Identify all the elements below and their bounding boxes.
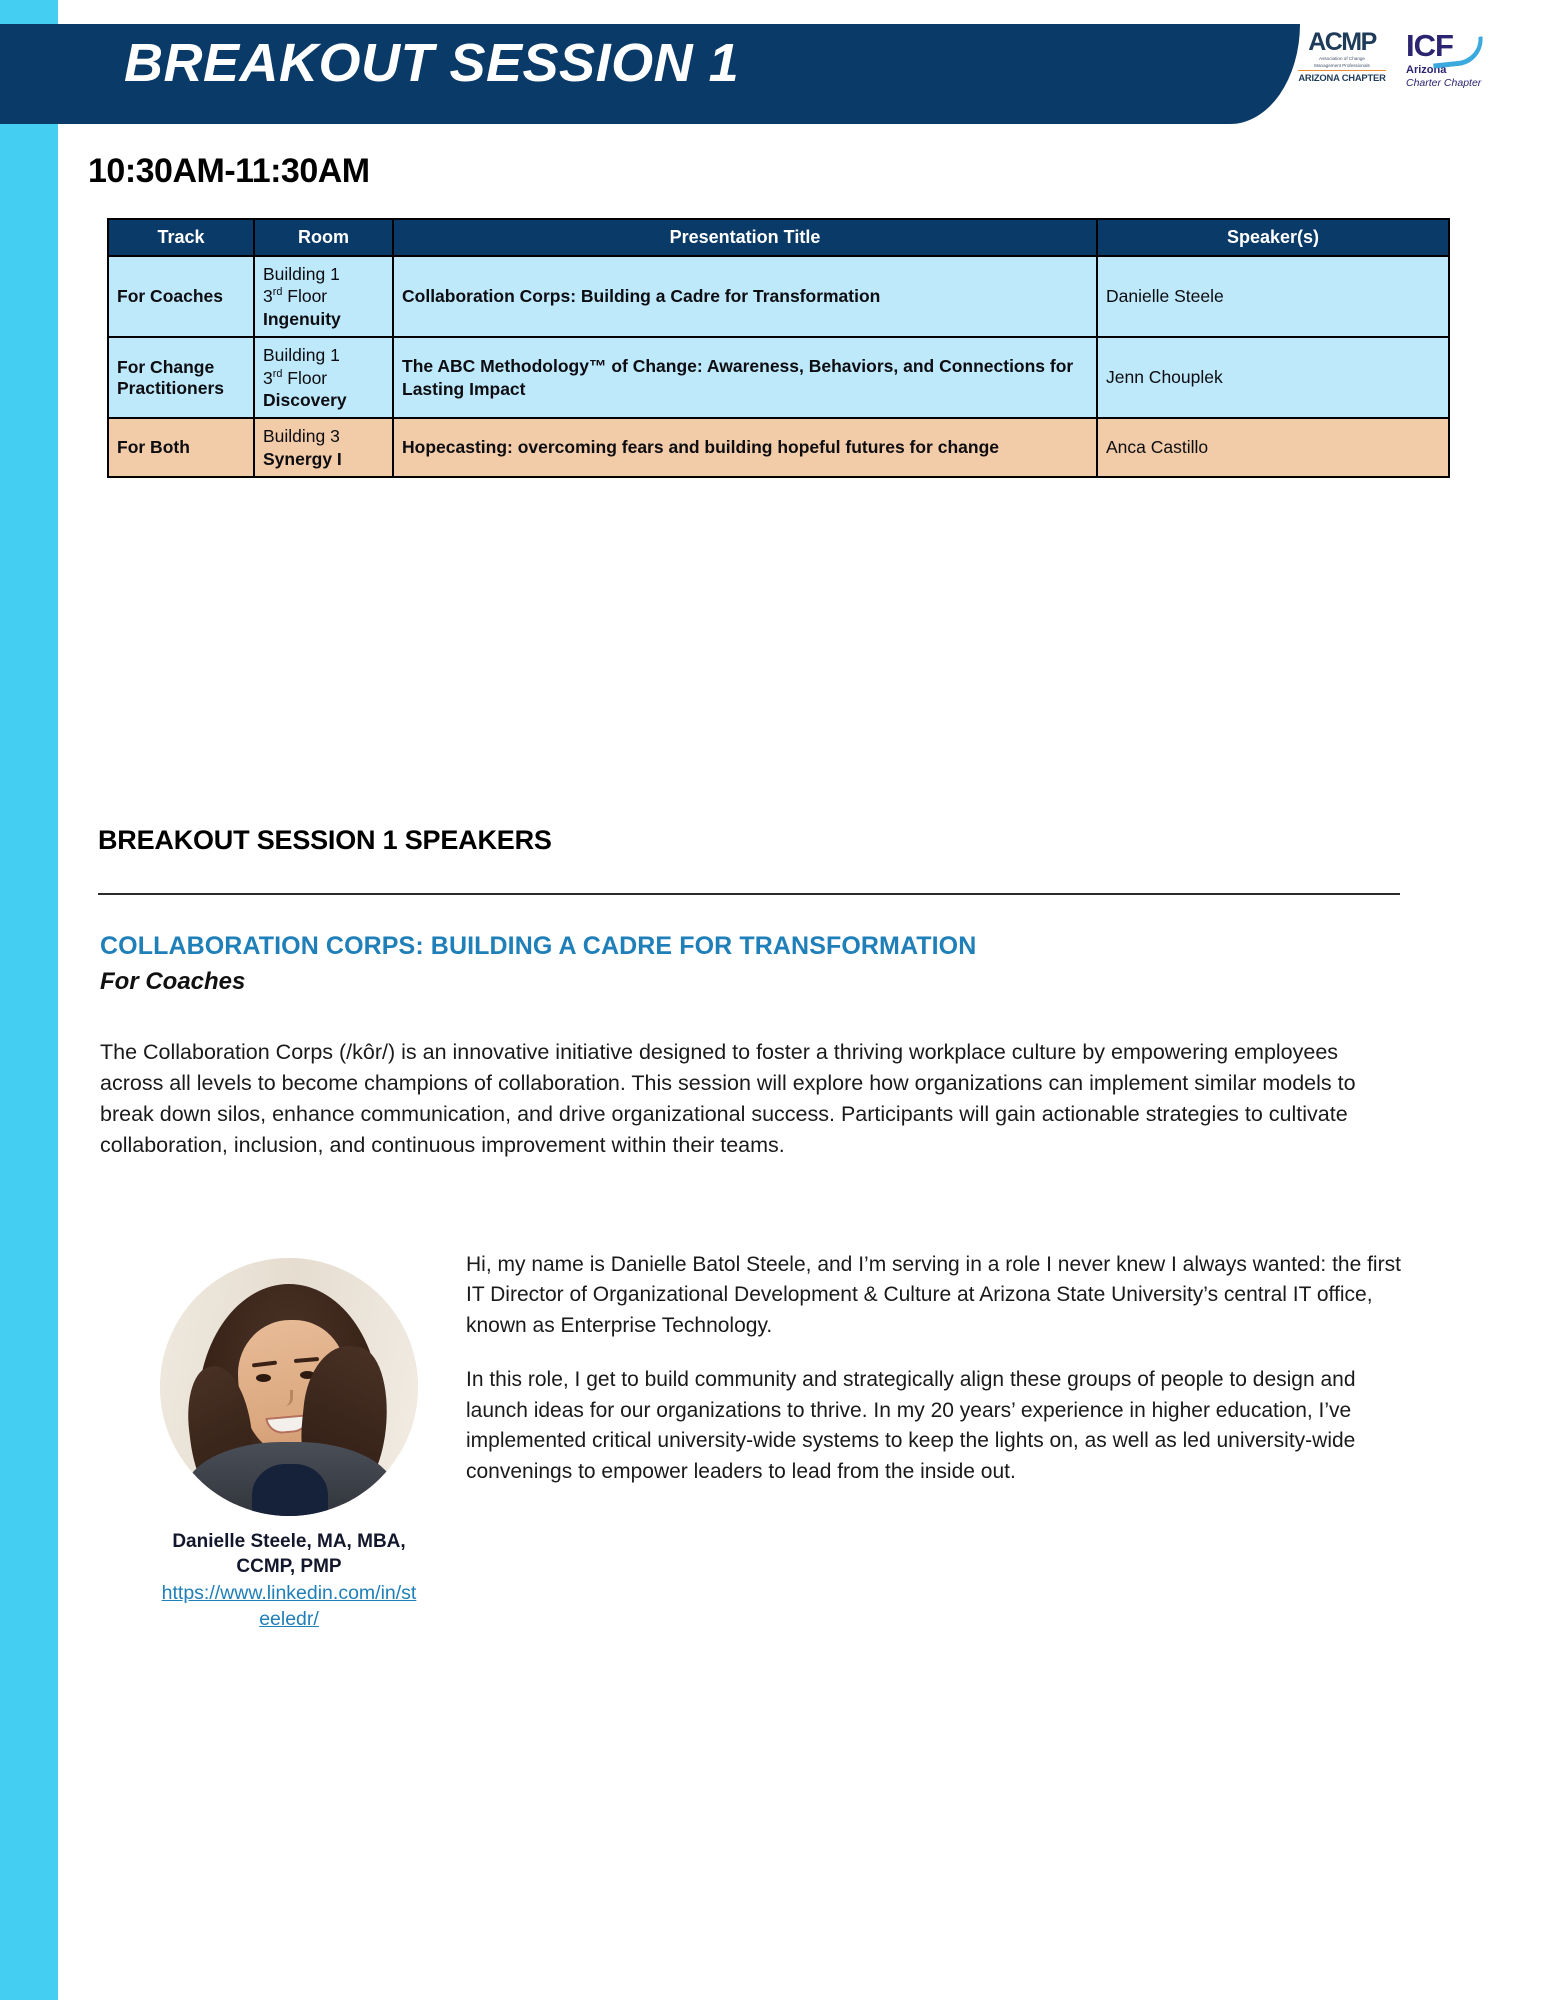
cell-presentation-title: The ABC Methodology™ of Change: Awarenes… bbox=[393, 337, 1097, 418]
portrait-shirt bbox=[252, 1464, 328, 1516]
acmp-divider bbox=[1298, 70, 1386, 71]
room-floor-number: 3 bbox=[263, 286, 273, 306]
room-building: Building 3 bbox=[263, 425, 384, 447]
logo-group: ACMP Association of Change Management Pr… bbox=[1292, 30, 1484, 89]
room-name: Discovery bbox=[263, 389, 384, 411]
table-row: For Coaches Building 1 3rd Floor Ingenui… bbox=[108, 256, 1449, 337]
session-time-heading: 10:30AM-11:30AM bbox=[88, 152, 370, 191]
cell-speaker: Jenn Chouplek bbox=[1097, 337, 1449, 418]
room-name: Synergy I bbox=[263, 448, 384, 470]
cell-presentation-title: Collaboration Corps: Building a Cadre fo… bbox=[393, 256, 1097, 337]
acmp-tagline-line1: Association of Change bbox=[1292, 56, 1392, 62]
column-header-presentation-title: Presentation Title bbox=[393, 219, 1097, 256]
left-accent-rail bbox=[0, 0, 58, 2000]
cell-room: Building 1 3rd Floor Discovery bbox=[254, 337, 393, 418]
room-building: Building 1 bbox=[263, 263, 384, 285]
session-title: COLLABORATION CORPS: BUILDING A CADRE FO… bbox=[100, 932, 976, 961]
acmp-wordmark: ACMP bbox=[1292, 30, 1392, 55]
room-floor: 3rd Floor bbox=[263, 367, 384, 389]
room-floor-ordinal: rd bbox=[273, 287, 283, 299]
cell-room: Building 1 3rd Floor Ingenuity bbox=[254, 256, 393, 337]
room-floor-suffix: Floor bbox=[282, 286, 327, 306]
speaker-profile-block: Danielle Steele, MA, MBA, CCMP, PMP http… bbox=[160, 1258, 418, 1632]
acmp-logo: ACMP Association of Change Management Pr… bbox=[1292, 30, 1392, 84]
session-track-label: For Coaches bbox=[100, 968, 245, 996]
column-header-speakers: Speaker(s) bbox=[1097, 219, 1449, 256]
room-floor-suffix: Floor bbox=[282, 368, 327, 388]
icf-wordmark: ICF bbox=[1406, 30, 1484, 61]
avatar bbox=[160, 1258, 418, 1516]
cell-speaker: Danielle Steele bbox=[1097, 256, 1449, 337]
room-building: Building 1 bbox=[263, 344, 384, 366]
icf-logo: ICF Arizona Charter Chapter bbox=[1406, 30, 1484, 89]
cell-track: For Change Practitioners bbox=[108, 337, 254, 418]
icf-chapter-region: Arizona bbox=[1406, 64, 1484, 77]
speaker-name-credentials: Danielle Steele, MA, MBA, CCMP, PMP bbox=[160, 1530, 418, 1579]
cell-speaker: Anca Castillo bbox=[1097, 418, 1449, 477]
column-header-room: Room bbox=[254, 219, 393, 256]
icf-chapter-label: Charter Chapter bbox=[1406, 77, 1484, 89]
icf-wordmark-text: ICF bbox=[1406, 28, 1453, 63]
table-header-row: Track Room Presentation Title Speaker(s) bbox=[108, 219, 1449, 256]
column-header-track: Track bbox=[108, 219, 254, 256]
speaker-bio: Hi, my name is Danielle Batol Steele, an… bbox=[466, 1250, 1406, 1487]
schedule-table: Track Room Presentation Title Speaker(s)… bbox=[107, 218, 1450, 478]
room-floor: 3rd Floor bbox=[263, 285, 384, 307]
acmp-chapter-label: ARIZONA CHAPTER bbox=[1292, 73, 1392, 83]
cell-track: For Both bbox=[108, 418, 254, 477]
portrait-eye-left bbox=[256, 1374, 271, 1382]
speaker-linkedin-link[interactable]: https://www.linkedin.com/in/steeledr/ bbox=[160, 1581, 418, 1632]
speakers-section-heading: BREAKOUT SESSION 1 SPEAKERS bbox=[98, 825, 552, 856]
portrait-nose bbox=[276, 1390, 293, 1406]
table-row: For Change Practitioners Building 1 3rd … bbox=[108, 337, 1449, 418]
speaker-bio-paragraph: Hi, my name is Danielle Batol Steele, an… bbox=[466, 1250, 1406, 1341]
room-name: Ingenuity bbox=[263, 308, 384, 330]
cell-room: Building 3 Synergy I bbox=[254, 418, 393, 477]
acmp-tagline-line2: Management Professionals bbox=[1292, 63, 1392, 69]
section-divider bbox=[98, 893, 1400, 895]
room-floor-ordinal: rd bbox=[273, 368, 283, 380]
cell-presentation-title: Hopecasting: overcoming fears and buildi… bbox=[393, 418, 1097, 477]
page-title: BREAKOUT SESSION 1 bbox=[124, 36, 739, 90]
table-row: For Both Building 3 Synergy I Hopecastin… bbox=[108, 418, 1449, 477]
session-abstract: The Collaboration Corps (/kôr/) is an in… bbox=[100, 1037, 1400, 1161]
cell-track: For Coaches bbox=[108, 256, 254, 337]
room-floor-number: 3 bbox=[263, 368, 273, 388]
speaker-bio-paragraph: In this role, I get to build community a… bbox=[466, 1365, 1406, 1487]
